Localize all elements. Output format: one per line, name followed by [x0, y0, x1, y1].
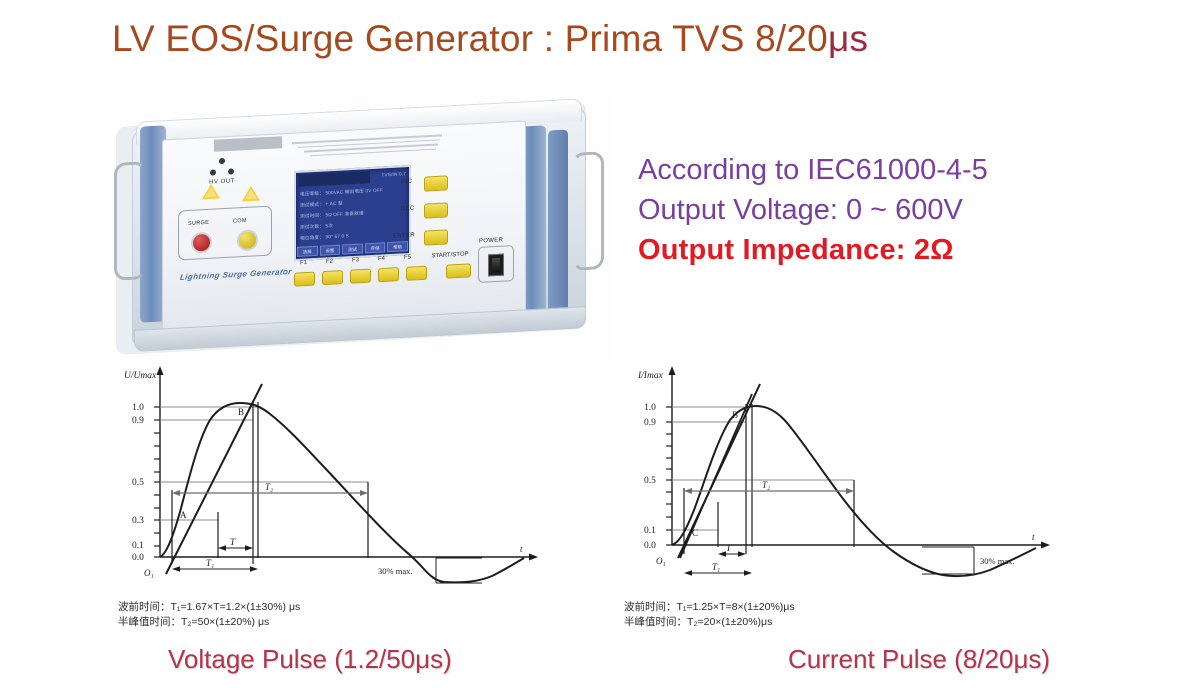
terminal-com-label: COM: [233, 218, 247, 225]
undershoot-bracket: [436, 558, 482, 583]
lcd-softkey-4[interactable]: 帮助: [387, 241, 408, 252]
origin-label: O₁: [144, 568, 154, 578]
device-handle-left: [114, 161, 146, 281]
inc-button-label: INC: [401, 179, 412, 186]
level-lines: [160, 407, 368, 520]
surge-generator-photo: HV OUT SURGE COM Lightning Surge Generat…: [96, 96, 612, 364]
f3-label: F3: [346, 257, 365, 264]
current-pulse-chart: I/Imax 1.0 0.9 0.5 0.1 0.0 O₁ C B T T₁ T…: [622, 362, 1062, 592]
start-stop-button[interactable]: [446, 263, 471, 278]
f4-button[interactable]: [378, 267, 399, 282]
lcd-header-right: TVS/IN 0.7: [382, 171, 406, 177]
dec-button-label: DEC: [401, 206, 415, 213]
lcd-row-3: 测试次数： 5次: [300, 223, 333, 231]
point-label-b: B: [238, 407, 244, 417]
voltage-front-time-note: 波前时间：T₁=1.67×T=1.2×(1±30%) μs: [118, 600, 300, 615]
lcd-title-bar: [298, 171, 370, 187]
undershoot-label: 30% max.: [980, 556, 1014, 566]
slide-root: LV EOS/Surge Generator : Prima TVS 8/20μ…: [0, 0, 1200, 688]
current-pulse-svg: I/Imax 1.0 0.9 0.5 0.1 0.0 O₁ C B T T₁ T…: [622, 362, 1062, 592]
x-axis-arrow: [529, 554, 538, 561]
y-axis-arrow: [669, 366, 676, 375]
point-label-c: C: [692, 528, 698, 538]
span-label-t2: T₂: [762, 480, 770, 490]
span-label-t1: T₁: [206, 558, 214, 568]
y-axis-arrow: [157, 366, 164, 375]
current-half-value-note: 半峰值时间：T₂=20×(1±20%)μs: [624, 615, 795, 630]
ytick-5: 0.1: [132, 541, 144, 551]
device-handle-right: [572, 151, 604, 271]
spec-output-voltage: Output Voltage: 0 ~ 600V: [638, 190, 1068, 230]
page-title: LV EOS/Surge Generator : Prima TVS 8/20μ…: [112, 18, 868, 60]
f2-label: F2: [320, 258, 339, 265]
lcd-softkey-2[interactable]: 测试: [342, 243, 363, 254]
y-axis-label: U/Umax: [124, 371, 157, 381]
t1-span: [172, 566, 258, 572]
origin-label: O₁: [656, 556, 666, 566]
tangent-line-2: [680, 394, 752, 558]
dec-button[interactable]: [424, 202, 448, 218]
voltage-half-value-note: 半峰值时间：T₂=50×(1±20%) μs: [118, 615, 300, 630]
f2-button[interactable]: [322, 270, 343, 285]
f3-button[interactable]: [350, 269, 371, 284]
current-front-time-note: 波前时间：T₁=1.25×T=8×(1±20%)μs: [624, 600, 795, 615]
warning-triangle-icon-2: [242, 186, 260, 202]
ytick-6: 0.0: [132, 553, 144, 563]
point-label-b: B: [732, 410, 738, 420]
hv-out-group: HV OUT: [192, 156, 252, 186]
f1-button[interactable]: [294, 272, 315, 287]
x-axis-label: t: [520, 544, 523, 554]
f1-label: F1: [294, 260, 313, 267]
output-terminal-group: SURGE COM: [178, 206, 272, 261]
ytick-3: 0.5: [132, 478, 144, 488]
t-span: [218, 545, 253, 551]
terminal-surge[interactable]: [191, 232, 212, 254]
warning-triangle-icon-1: [202, 184, 220, 200]
ytick-2: 0.9: [132, 416, 144, 426]
inc-button[interactable]: [424, 175, 448, 191]
chart-labels: I/Imax 1.0 0.9 0.5 0.1 0.0 O₁ C B T T₁ T…: [637, 371, 1035, 572]
tangent-line: [166, 384, 262, 574]
ytick-4: 0.1: [644, 526, 656, 536]
lcd-row-0: 电压等级： 500VAC 输出电压 0V OFF: [300, 187, 383, 197]
x-axis-label: t: [1032, 532, 1035, 542]
voltage-pulse-svg: U/Umax 1.0 0.9 0.5 0.3 0.1 0.0 O₁ A B T …: [110, 362, 550, 592]
device-rail-right-outer: [548, 129, 568, 316]
f5-label: F5: [398, 254, 417, 261]
minor-ticks: [666, 407, 672, 545]
x-axis-arrow: [1041, 542, 1050, 549]
point-label-a: A: [180, 510, 187, 520]
lcd-softkey-0[interactable]: 选择: [297, 246, 318, 257]
lcd-row-2: 测试时间： 5Ω OFF 准备就绪: [300, 210, 364, 219]
chart-labels: U/Umax 1.0 0.9 0.5 0.3 0.1 0.0 O₁ A B T …: [124, 371, 523, 578]
voltage-pulse-notes: 波前时间：T₁=1.67×T=1.2×(1±30%) μs 半峰值时间：T₂=5…: [118, 600, 300, 630]
ytick-5: 0.0: [644, 541, 656, 551]
ytick-1: 1.0: [132, 403, 144, 413]
enter-button-label: ENTER: [393, 232, 415, 239]
power-label: POWER: [479, 237, 503, 244]
f5-button[interactable]: [406, 266, 427, 281]
power-switch[interactable]: [488, 254, 504, 277]
ytick-3: 0.5: [644, 476, 656, 486]
ytick-2: 0.9: [644, 418, 656, 428]
span-label-t2: T₂: [265, 482, 273, 492]
span-label-t1: T₁: [712, 562, 720, 572]
lcd-softkey-1[interactable]: 设置: [320, 245, 341, 256]
hv-out-icon: [209, 157, 235, 178]
terminal-com[interactable]: [237, 229, 258, 251]
t-span: [718, 551, 746, 557]
enter-button[interactable]: [424, 229, 448, 245]
y-axis-label: I/Imax: [637, 371, 664, 381]
ytick-4: 0.3: [132, 516, 144, 526]
spec-output-impedance: Output Impedance: 2Ω: [638, 230, 1068, 270]
lcd-softkey-3[interactable]: 存储: [365, 242, 386, 253]
undershoot-bracket: [922, 547, 974, 574]
f4-label: F4: [372, 256, 391, 263]
device-lcd-screen: TVS/IN 0.7 电压等级： 500VAC 输出电压 0V OFF 测试模式…: [294, 165, 411, 261]
voltage-pulse-chart: U/Umax 1.0 0.9 0.5 0.3 0.1 0.0 O₁ A B T …: [110, 362, 550, 592]
spec-standard: According to IEC61000-4-5: [638, 150, 1068, 190]
page-title-unit: μs: [828, 18, 868, 59]
span-label-t: T: [230, 537, 236, 547]
undershoot-label: 30% max.: [378, 566, 412, 576]
lcd-row-4: 相位角度： 90° 67 0 S: [300, 233, 349, 242]
terminal-surge-label: SURGE: [188, 220, 209, 227]
current-pulse-title: Current Pulse (8/20μs): [788, 644, 1050, 675]
spec-text-block: According to IEC61000-4-5 Output Voltage…: [638, 150, 1068, 270]
lcd-row-1: 测试模式： + AC 型: [300, 201, 343, 209]
voltage-pulse-title: Voltage Pulse (1.2/50μs): [168, 644, 452, 675]
minor-ticks: [154, 407, 160, 557]
current-pulse-notes: 波前时间：T₁=1.25×T=8×(1±20%)μs 半峰值时间：T₂=20×(…: [624, 600, 795, 630]
page-title-main: LV EOS/Surge Generator : Prima TVS 8/20: [112, 18, 828, 59]
ytick-1: 1.0: [644, 403, 656, 413]
